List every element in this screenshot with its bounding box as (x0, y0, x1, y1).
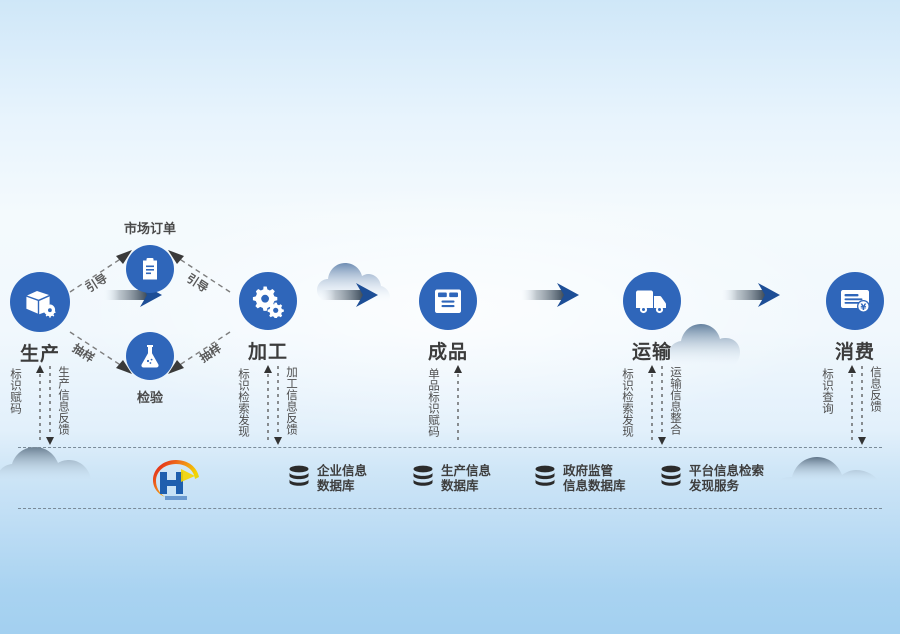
feedback-transport: 标识检索发现 运输信息整合 (618, 364, 688, 451)
feedback-processing-up-label: 标识检索发现 (236, 368, 249, 437)
transport-icon-disc (623, 272, 681, 330)
feedback-processing-down-label: 加工信息反馈 (284, 366, 297, 435)
database-platform-retrieval[interactable]: 平台信息检索 发现服务 (660, 464, 764, 494)
receipt-yen-icon: ¥ (839, 286, 871, 316)
database-enterprise-info-text: 企业信息 数据库 (317, 464, 367, 494)
box-gear-icon (23, 285, 57, 319)
feedback-consumption-down-label: 信息反馈 (868, 366, 881, 412)
consumption-label: 消费 (815, 337, 895, 364)
feedback-production: 标识赋码 生产信息反馈 (6, 364, 76, 451)
node-production[interactable]: 生产 (0, 272, 80, 366)
node-transport[interactable]: 运输 (612, 272, 692, 364)
database-enterprise-info[interactable]: 企业信息 数据库 (288, 464, 367, 494)
finished-icon-disc (419, 272, 477, 330)
consumption-icon-disc: ¥ (826, 272, 884, 330)
truck-icon (635, 286, 669, 316)
company-logo (150, 457, 202, 510)
feedback-consumption-up-label: 标识查询 (820, 368, 833, 414)
inspection-icon-disc (126, 332, 174, 380)
database-icon (660, 465, 682, 494)
database-icon (534, 465, 556, 494)
node-market-order[interactable]: 市场订单 (120, 218, 180, 293)
flow-arrow-transport-consumption (722, 280, 784, 310)
node-consumption[interactable]: ¥ 消费 (815, 272, 895, 364)
database-icon (288, 465, 310, 494)
gears-icon (251, 284, 285, 318)
feedback-transport-down-label: 运输信息整合 (668, 366, 681, 435)
market-order-icon-disc (126, 245, 174, 293)
market-order-label: 市场订单 (120, 218, 180, 237)
carton-icon (432, 285, 464, 317)
database-icon (412, 465, 434, 494)
production-icon-disc (10, 272, 70, 332)
processing-label: 加工 (228, 337, 308, 364)
feedback-processing: 标识检索发现 加工信息反馈 (234, 364, 304, 451)
node-processing[interactable]: 加工 (228, 272, 308, 364)
processing-icon-disc (239, 272, 297, 330)
svg-text:¥: ¥ (860, 302, 866, 312)
feedback-production-down-label: 生产信息反馈 (56, 366, 69, 435)
finished-label: 成品 (408, 337, 488, 364)
feedback-production-up-label: 标识赋码 (8, 368, 21, 414)
transport-label: 运输 (612, 337, 692, 364)
feedback-finished: 单品标识赋码 (414, 364, 484, 451)
node-finished[interactable]: 成品 (408, 272, 488, 364)
node-inspection[interactable]: 检验 (120, 332, 180, 406)
feedback-transport-up-label: 标识检索发现 (620, 368, 633, 437)
feedback-finished-up-label: 单品标识赋码 (426, 368, 439, 437)
feedback-consumption: 标识查询 信息反馈 (818, 364, 888, 451)
flow-arrow-finished-transport (521, 280, 583, 310)
clipboard-icon (138, 257, 162, 281)
database-platform-retrieval-text: 平台信息检索 发现服务 (689, 464, 764, 494)
flask-icon (137, 343, 163, 369)
diagram-canvas: 引导 引导 抽样 抽样 生产 市场订单 (0, 0, 900, 634)
inspection-label: 检验 (120, 387, 180, 406)
flow-arrow-processing-finished (320, 280, 382, 310)
database-production-info[interactable]: 生产信息 数据库 (412, 464, 491, 494)
database-production-info-text: 生产信息 数据库 (441, 464, 491, 494)
database-government-supervision[interactable]: 政府监管 信息数据库 (534, 464, 626, 494)
database-government-supervision-text: 政府监管 信息数据库 (563, 464, 626, 494)
production-label: 生产 (0, 339, 80, 366)
